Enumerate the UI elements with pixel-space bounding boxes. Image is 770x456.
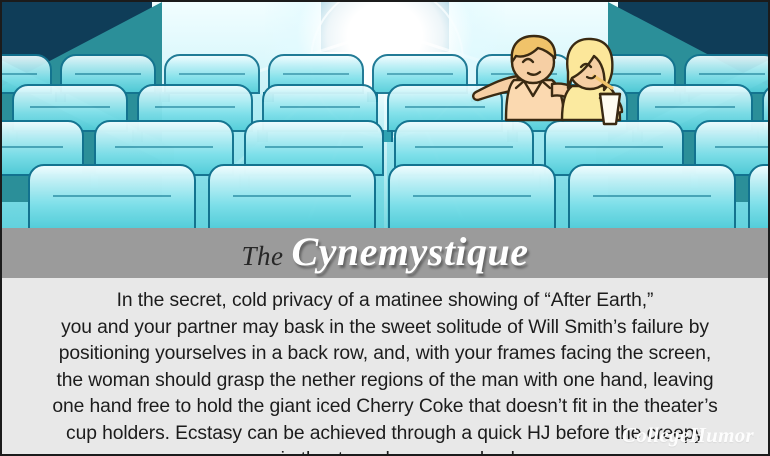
- projector-screen: [321, 2, 449, 52]
- theater-seat: [388, 164, 556, 228]
- theater-seat: [748, 164, 768, 228]
- body-line: movie theater usher comes back.: [20, 447, 750, 456]
- body-line: In the secret, cold privacy of a matinee…: [20, 288, 750, 315]
- collegehumor-watermark: CollegeHumor: [622, 423, 754, 448]
- theater-seat: [568, 164, 736, 228]
- title-banner: TheCynemystique: [2, 228, 768, 278]
- body-line: positioning yourselves in a back row, an…: [20, 341, 750, 368]
- body-line: the woman should grasp the nether region…: [20, 368, 750, 395]
- title-prefix: The: [241, 241, 283, 271]
- body-line: one hand free to hold the giant iced Che…: [20, 394, 750, 421]
- couple-in-back-row: [454, 24, 644, 154]
- theater-seat: [28, 164, 196, 228]
- banner-title: TheCynemystique: [241, 232, 528, 275]
- poster: TheCynemystique In the secret, cold priv…: [0, 0, 770, 456]
- theater-illustration: [2, 2, 768, 228]
- title-main: Cynemystique: [291, 229, 528, 274]
- body-panel: In the secret, cold privacy of a matinee…: [2, 278, 768, 454]
- theater-seat: [208, 164, 376, 228]
- body-line: you and your partner may bask in the swe…: [20, 315, 750, 342]
